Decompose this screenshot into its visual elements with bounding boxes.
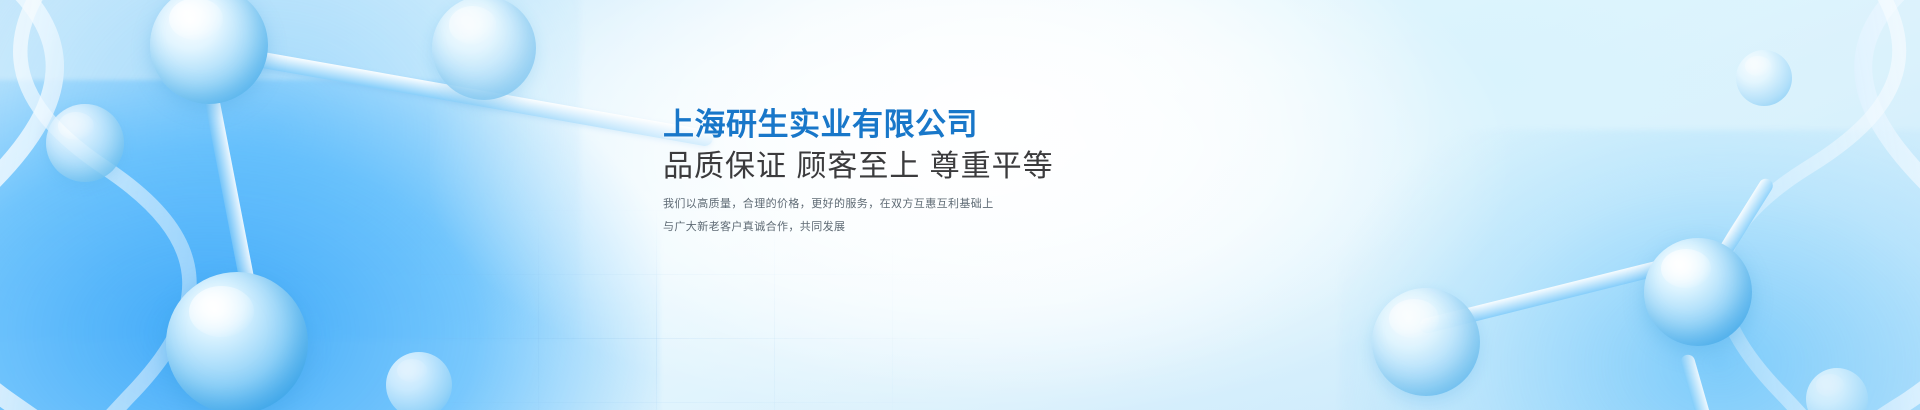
page-title: 上海研生实业有限公司 — [663, 106, 1283, 144]
background-glow-bottom-right — [1340, 130, 1920, 410]
molecule-atom — [1806, 368, 1868, 410]
molecule-atom — [166, 272, 308, 410]
banner-copy: 上海研生实业有限公司 品质保证 顾客至上 尊重平等 我们以高质量，合理的价格，更… — [663, 106, 1283, 242]
molecule-atom — [386, 352, 452, 410]
banner-description: 我们以高质量，合理的价格，更好的服务，在双方互惠互利基础上 与广大新老客户真诚合… — [663, 196, 1283, 236]
dna-helix-icon — [0, 0, 255, 410]
molecule-atom — [1644, 238, 1752, 346]
molecule-bond — [1684, 176, 1775, 311]
molecule-atom — [46, 104, 124, 182]
description-line: 与广大新老客户真诚合作，共同发展 — [663, 219, 1283, 236]
molecule-atom — [1372, 288, 1480, 396]
dna-helix-icon — [1661, 0, 1920, 410]
background-glow-top-left — [0, 0, 580, 340]
molecule-atom — [1736, 50, 1792, 106]
molecule-bond — [239, 48, 714, 147]
banner-subtitle: 品质保证 顾客至上 尊重平等 — [663, 147, 1283, 187]
background-glow-bottom-left — [0, 80, 660, 410]
description-line: 我们以高质量，合理的价格，更好的服务，在双方互惠互利基础上 — [663, 196, 1283, 213]
molecule-bond — [1418, 257, 1674, 334]
molecule-bond — [1679, 353, 1723, 410]
hero-banner: 上海研生实业有限公司 品质保证 顾客至上 尊重平等 我们以高质量，合理的价格，更… — [0, 0, 1920, 410]
molecule-atom — [432, 0, 536, 100]
molecule-atom — [150, 0, 268, 104]
molecule-bond — [199, 68, 265, 334]
